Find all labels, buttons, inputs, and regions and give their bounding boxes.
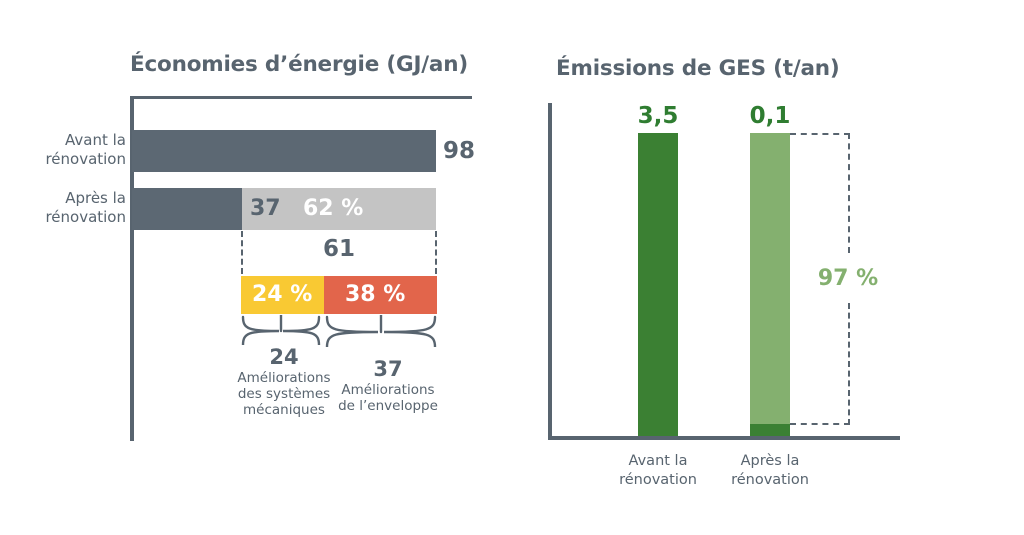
x-axis-label-avant-line1: Avant la — [593, 452, 723, 471]
bar-ges-avant — [638, 133, 678, 436]
annotation-envelope-line2: de l’enveloppe — [330, 398, 446, 414]
category-label-avant-line2: rénovation — [6, 150, 126, 169]
category-label-apres-line2: rénovation — [6, 208, 126, 227]
breakdown-value-24-percent: 24 % — [252, 276, 312, 314]
breakdown-value-38-percent: 38 % — [345, 276, 405, 314]
bar-value-37: 37 — [250, 188, 281, 230]
dashed-bracket-top — [790, 133, 850, 135]
right-chart-x-axis — [548, 436, 900, 440]
annotation-envelope-value: 37 — [330, 356, 446, 382]
x-axis-label-apres-line1: Après la — [705, 452, 835, 471]
bar-ges-apres-fill — [750, 424, 790, 436]
energy-savings-chart: Économies d’énergie (GJ/an) Avant la rén… — [0, 0, 512, 535]
x-axis-label-apres: Après la rénovation — [705, 452, 835, 490]
bar-value-98: 98 — [443, 130, 475, 172]
x-axis-label-avant: Avant la rénovation — [593, 452, 723, 490]
category-label-apres: Après la rénovation — [6, 189, 126, 227]
total-savings-value: 61 — [241, 236, 437, 262]
dashed-bracket-right-lower — [848, 303, 850, 425]
dashed-bracket-bottom — [790, 423, 850, 425]
x-axis-label-avant-line2: rénovation — [593, 471, 723, 490]
bar-segment-consumption — [132, 130, 436, 172]
category-label-avant-line1: Avant la — [6, 131, 126, 150]
brace-envelope-icon — [325, 315, 437, 347]
dashed-bracket-right-upper — [848, 133, 850, 253]
bar-ges-avant-fill — [638, 133, 678, 436]
bar-ges-apres-ghost — [750, 133, 790, 424]
x-axis-label-apres-line2: rénovation — [705, 471, 835, 490]
bar-value-3-5: 3,5 — [628, 103, 688, 129]
bar-value-62-percent: 62 % — [303, 188, 363, 230]
left-chart-top-axis — [130, 96, 472, 99]
right-chart-y-axis — [548, 103, 552, 440]
chart-title-energy: Économies d’énergie (GJ/an) — [130, 52, 468, 77]
brace-mechanical-icon — [241, 315, 321, 345]
bar-avant-renovation — [132, 130, 436, 172]
bar-value-0-1: 0,1 — [740, 103, 800, 129]
chart-title-ges: Émissions de GES (t/an) — [556, 56, 840, 81]
category-label-apres-line1: Après la — [6, 189, 126, 208]
annotation-envelope: 37 Améliorations de l’enveloppe — [330, 356, 446, 414]
bar-ges-apres — [750, 133, 790, 436]
bar-segment-remaining — [132, 188, 242, 230]
reduction-percentage-label: 97 % — [800, 266, 896, 291]
bar-apres-renovation — [132, 188, 436, 230]
category-label-avant: Avant la rénovation — [6, 131, 126, 169]
annotation-envelope-line1: Améliorations — [330, 382, 446, 398]
